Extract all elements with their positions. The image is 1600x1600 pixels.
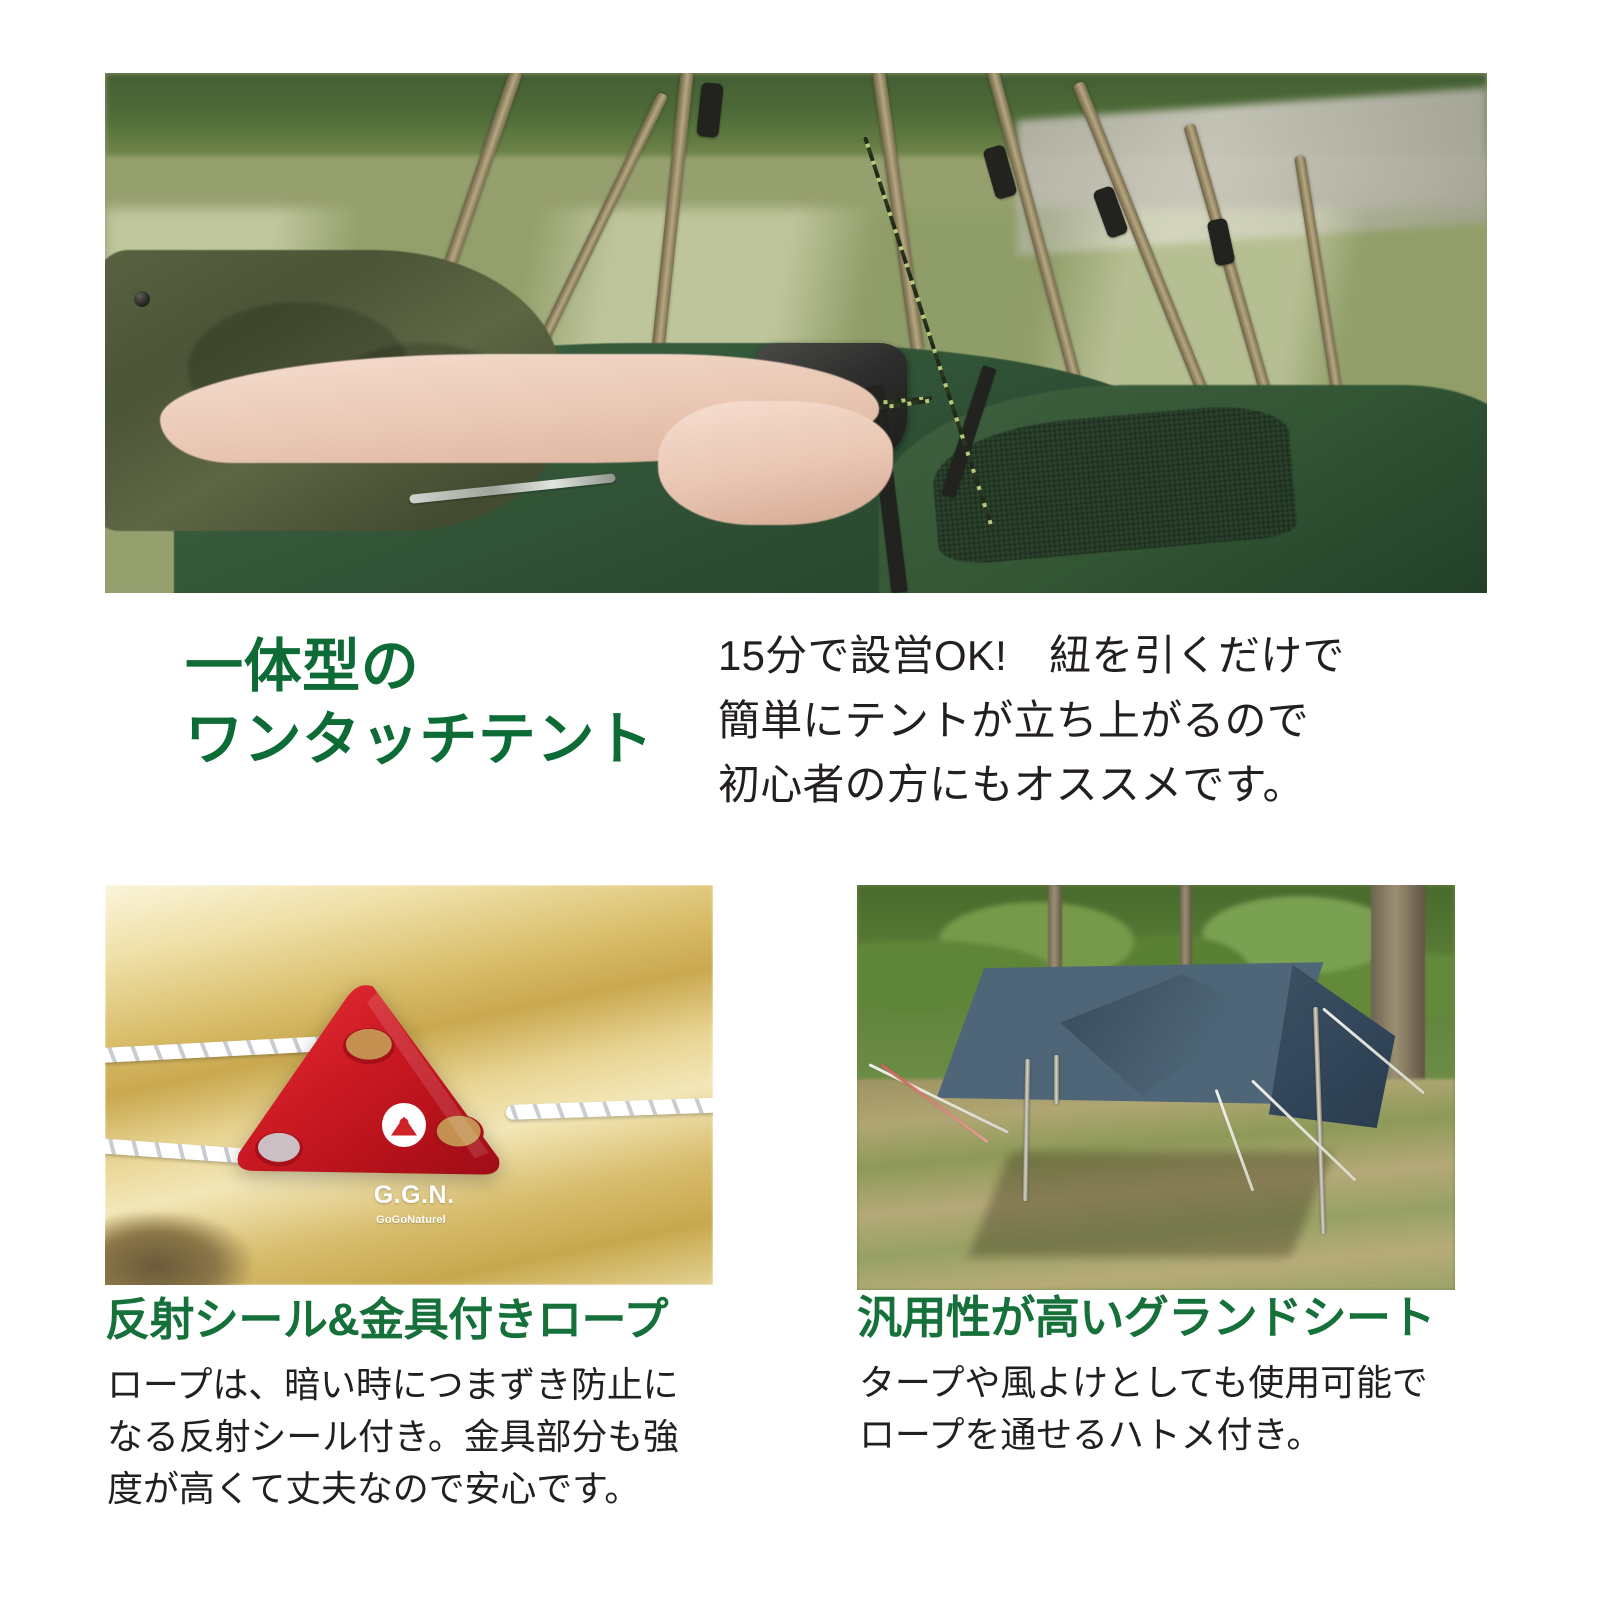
mid-heading-line2: ワンタッチテント: [185, 703, 705, 776]
product-feature-page: 一体型の ワンタッチテント 15分で設営OK! 紐を引くだけで 簡単にテントが立…: [0, 0, 1600, 1600]
brand-tagline: GoGoNaturel: [376, 1215, 446, 1226]
card-body-groundsheet: タープや風よけとしても使用可能で ロープを通せるハトメ付き。: [859, 1357, 1459, 1461]
card-heading-groundsheet: 汎用性が高いグランドシート: [857, 1293, 1435, 1343]
red-tensioner-plate: [227, 981, 507, 1189]
tarp-photo: [857, 885, 1455, 1290]
hand-gripping-cord: [658, 401, 893, 526]
mid-heading-line1: 一体型の: [185, 634, 419, 699]
card-body-line2: ロープを通せるハトメ付き。: [859, 1409, 1459, 1461]
tarp-cast-shadow: [967, 1152, 1332, 1257]
mid-text-block: 一体型の ワンタッチテント 15分で設営OK! 紐を引くだけで 簡単にテントが立…: [0, 610, 1600, 830]
mid-body-text: 15分で設営OK! 紐を引くだけで 簡単にテントが立ち上がるので 初心者の方にも…: [718, 624, 1358, 818]
card-body-line3: 度が高くて丈夫なので安心です。: [107, 1463, 707, 1515]
card-body-line1: タープや風よけとしても使用可能で: [859, 1357, 1459, 1409]
mid-body-line2: 簡単にテントが立ち上がるので: [718, 689, 1358, 754]
tarp-pole-mid: [1054, 1055, 1059, 1104]
hero-photo-tent-hub: [105, 73, 1487, 593]
card-body-rope: ロープは、暗い時につまずき防止に なる反射シール付き。金具部分も強 度が高くて丈…: [107, 1359, 707, 1514]
mid-body-line3: 初心者の方にもオススメです。: [718, 753, 1358, 818]
mid-body-line1: 15分で設営OK! 紐を引くだけで: [718, 624, 1358, 689]
brand-name: G.G.N.: [374, 1183, 455, 1208]
card-heading-rope: 反射シール&金具付きロープ: [105, 1295, 668, 1345]
ground-dirt-corner: [105, 1213, 251, 1285]
feature-card-groundsheet: 汎用性が高いグランドシート タープや風よけとしても使用可能で ロープを通せるハト…: [857, 885, 1455, 1290]
feature-card-rope: G.G.N. GoGoNaturel 反射シール&金具付きロープ ロープは、暗い…: [105, 885, 713, 1285]
ggn-mountain-logo-icon: [382, 1103, 426, 1147]
card-body-line1: ロープは、暗い時につまずき防止に: [107, 1359, 707, 1411]
rope-plate-photo: G.G.N. GoGoNaturel: [105, 885, 713, 1285]
card-body-line2: なる反射シール付き。金具部分も強: [107, 1411, 707, 1463]
mid-heading: 一体型の ワンタッチテント: [185, 630, 705, 776]
logo-peak-dot: [399, 1118, 408, 1127]
